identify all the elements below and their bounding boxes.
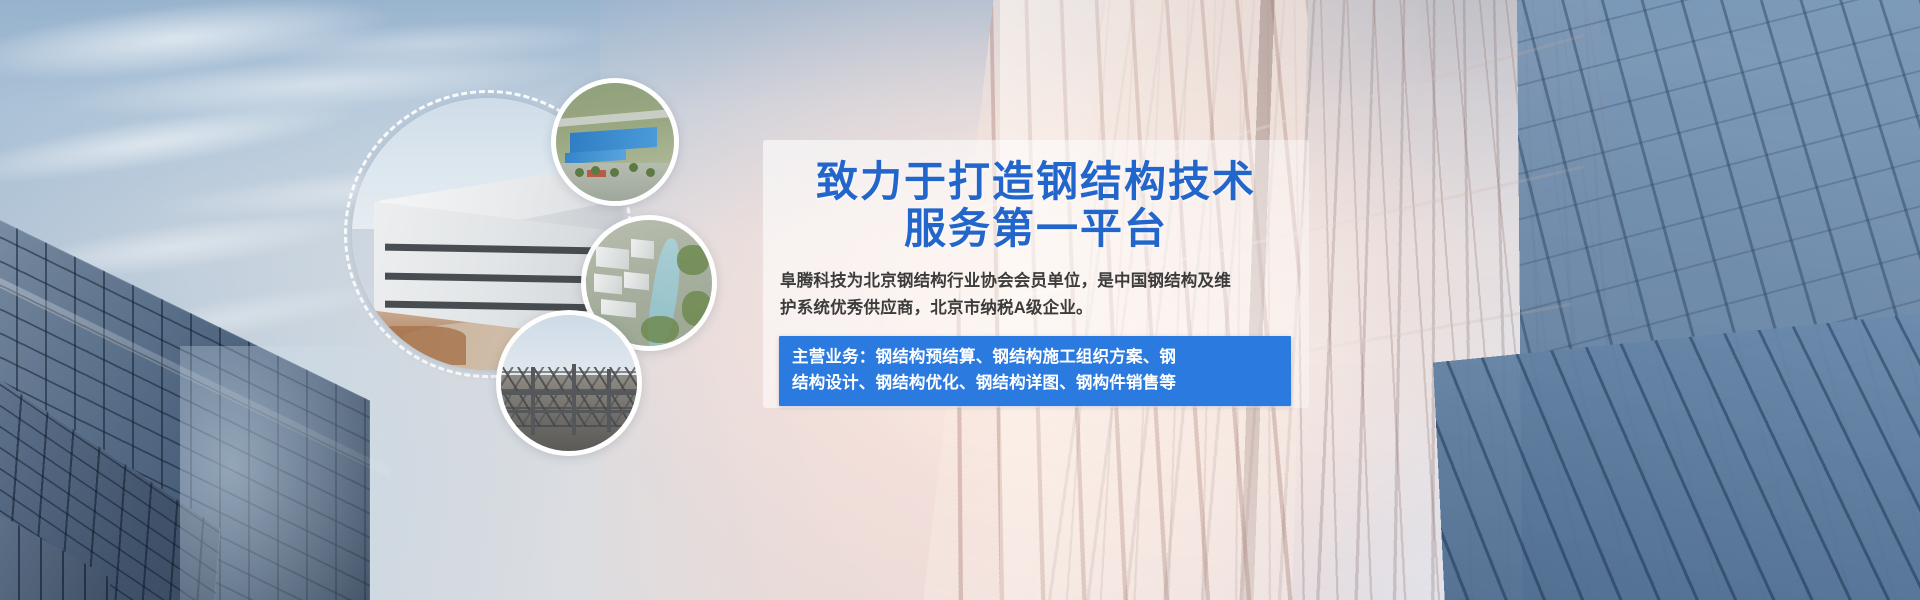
badge-line-2: 结构设计、钢结构优化、钢结构详图、钢构件销售等 (792, 371, 1278, 397)
campus-building (624, 272, 649, 291)
banner-description: 阜腾科技为北京钢结构行业协会会员单位，是中国钢结构及维 护系统优秀供应商，北京市… (780, 268, 1300, 321)
hero-banner: 致力于打造钢结构技术 服务第一平台 阜腾科技为北京钢结构行业协会会员单位，是中国… (0, 0, 1920, 600)
photo-circle-steel-truss (496, 310, 642, 456)
steel-truss-lattice (496, 367, 642, 427)
campus-building (594, 274, 622, 295)
banner-headline: 致力于打造钢结构技术 服务第一平台 (763, 160, 1309, 255)
tree (575, 168, 584, 177)
photo-circle-aerial-factory (551, 78, 679, 206)
description-line-1: 阜腾科技为北京钢结构行业协会会员单位，是中国钢结构及维 (780, 268, 1300, 295)
badge-line-1: 主营业务：钢结构预结算、钢结构施工组织方案、钢 (792, 345, 1278, 371)
headline-line-2: 服务第一平台 (763, 207, 1309, 254)
steel-column (572, 364, 576, 435)
campus-building (631, 239, 654, 259)
glass-facade-photo-left (0, 196, 390, 600)
steel-column (531, 367, 535, 435)
vegetation (682, 291, 712, 326)
tree (646, 168, 655, 177)
vegetation (677, 245, 710, 275)
headline-line-1: 致力于打造钢结构技术 (763, 160, 1309, 207)
facade-sky-reflection (180, 346, 440, 600)
skyscraper-lower-glass (1433, 312, 1920, 600)
photo-dirt-mound (352, 326, 466, 364)
description-line-2: 护系统优秀供应商，北京市纳税A级企业。 (780, 295, 1300, 322)
steel-beam (501, 410, 637, 413)
vegetation (641, 316, 679, 344)
steel-column (607, 369, 611, 432)
campus-building (596, 246, 629, 270)
tree (591, 166, 600, 175)
steel-beam (501, 391, 637, 395)
business-scope-badge: 主营业务：钢结构预结算、钢结构施工组织方案、钢 结构设计、钢结构优化、钢结构详图… (779, 336, 1291, 406)
